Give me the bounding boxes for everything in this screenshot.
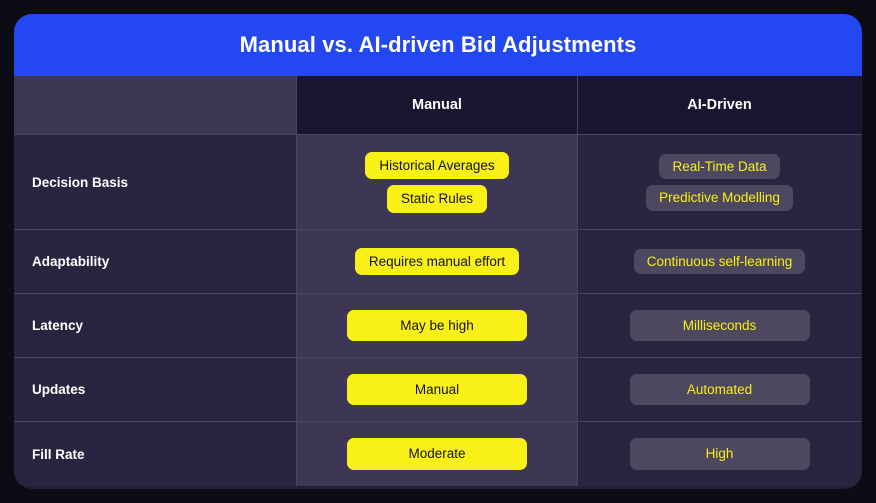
row-label: Decision Basis xyxy=(14,175,128,190)
row-manual-cell: Manual xyxy=(296,358,578,421)
pill-stack: Requires manual effort xyxy=(297,248,577,276)
row-ai-cell: Real-Time Data Predictive Modelling xyxy=(578,135,861,229)
value-pill: Manual xyxy=(347,374,527,406)
value-pill: High xyxy=(630,438,810,470)
row-label: Updates xyxy=(14,382,85,397)
pill-stack: High xyxy=(578,438,861,470)
row-manual-cell: Moderate xyxy=(296,422,578,486)
value-pill: Milliseconds xyxy=(630,310,810,342)
row-ai-cell: Milliseconds xyxy=(578,294,861,357)
row-label-cell: Updates xyxy=(14,358,296,421)
row-label-cell: Latency xyxy=(14,294,296,357)
pill-stack: Manual xyxy=(297,374,577,406)
row-label-cell: Decision Basis xyxy=(14,135,296,229)
header-label-ai: AI-Driven xyxy=(578,97,861,113)
pill-stack: Milliseconds xyxy=(578,310,861,342)
header-cell-manual: Manual xyxy=(296,76,578,134)
value-pill: May be high xyxy=(347,310,527,342)
value-pill: Moderate xyxy=(347,438,527,470)
comparison-table: Manual AI-Driven Decision Basis Historic… xyxy=(14,76,862,489)
header-label-manual: Manual xyxy=(297,97,577,113)
pill-stack: Moderate xyxy=(297,438,577,470)
table-row: Decision Basis Historical Averages Stati… xyxy=(14,135,862,230)
value-pill: Predictive Modelling xyxy=(646,185,793,211)
table-row: Adaptability Requires manual effort Cont… xyxy=(14,230,862,294)
pill-stack: May be high xyxy=(297,310,577,342)
row-label: Latency xyxy=(14,318,83,333)
value-pill: Continuous self-learning xyxy=(634,249,806,275)
row-manual-cell: May be high xyxy=(296,294,578,357)
row-ai-cell: High xyxy=(578,422,861,486)
value-pill: Historical Averages xyxy=(365,152,508,180)
row-manual-cell: Historical Averages Static Rules xyxy=(296,135,578,229)
value-pill: Static Rules xyxy=(387,185,487,213)
table-row: Fill Rate Moderate High xyxy=(14,422,862,486)
page-title: Manual vs. AI-driven Bid Adjustments xyxy=(240,32,637,58)
header-cell-attribute xyxy=(14,76,296,134)
pill-stack: Historical Averages Static Rules xyxy=(297,152,577,213)
pill-stack: Continuous self-learning xyxy=(578,249,861,275)
row-manual-cell: Requires manual effort xyxy=(296,230,578,293)
table-row: Updates Manual Automated xyxy=(14,358,862,422)
row-ai-cell: Automated xyxy=(578,358,861,421)
row-ai-cell: Continuous self-learning xyxy=(578,230,861,293)
row-label-cell: Adaptability xyxy=(14,230,296,293)
row-label: Adaptability xyxy=(14,254,109,269)
table-row: Latency May be high Milliseconds xyxy=(14,294,862,358)
row-label: Fill Rate xyxy=(14,447,85,462)
row-label-cell: Fill Rate xyxy=(14,422,296,486)
card-title-bar: Manual vs. AI-driven Bid Adjustments xyxy=(14,14,862,76)
header-cell-ai: AI-Driven xyxy=(578,76,861,134)
value-pill: Automated xyxy=(630,374,810,406)
value-pill: Requires manual effort xyxy=(355,248,519,276)
pill-stack: Real-Time Data Predictive Modelling xyxy=(578,154,861,211)
value-pill: Real-Time Data xyxy=(659,154,779,180)
pill-stack: Automated xyxy=(578,374,861,406)
comparison-card: Manual vs. AI-driven Bid Adjustments Man… xyxy=(14,14,862,489)
table-header-row: Manual AI-Driven xyxy=(14,76,862,135)
